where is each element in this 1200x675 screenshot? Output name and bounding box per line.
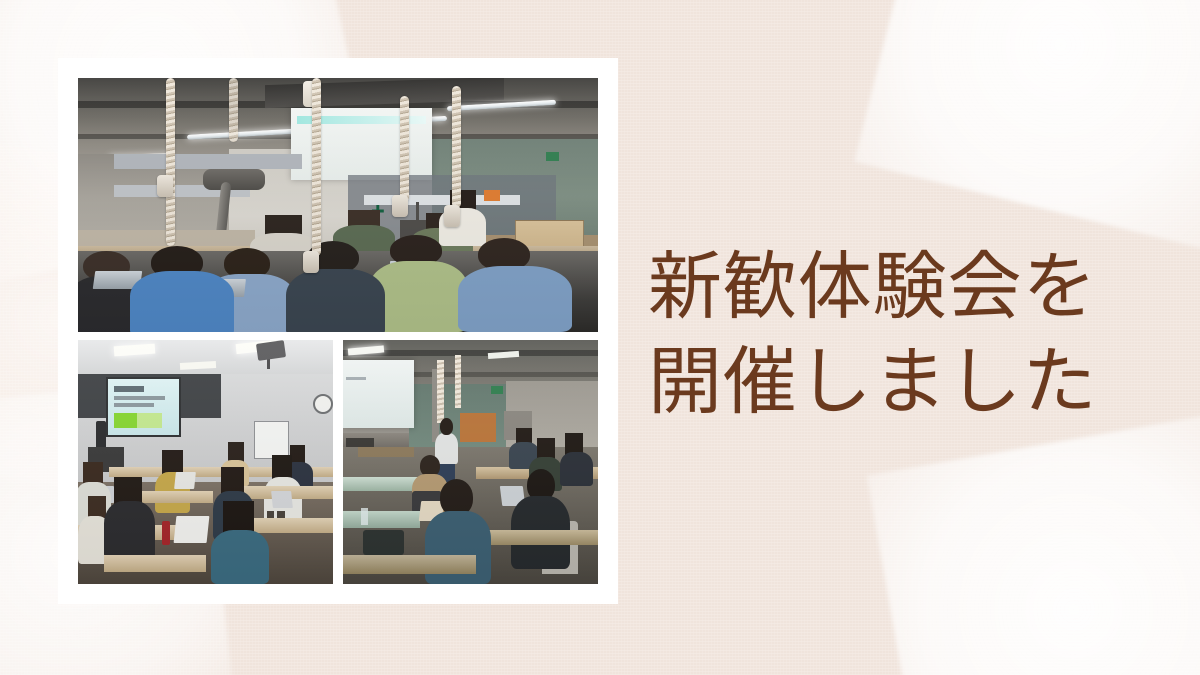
cord-socket: [303, 251, 319, 273]
photo-workshop-lecture-scene: [78, 78, 598, 332]
slide-title-line: [114, 386, 145, 392]
slide-text-line: [114, 396, 165, 400]
slide-green-block: [114, 413, 137, 428]
person-head: [88, 496, 106, 518]
workbench: [481, 530, 598, 545]
headline-line-1: 新歓体験会を: [648, 240, 1148, 335]
hanging-power-cord: [312, 78, 321, 256]
wall-clock: [313, 394, 333, 414]
headline-line-2: 開催しました: [648, 335, 1148, 430]
slide-text-line: [346, 377, 366, 380]
hanging-power-cord: [455, 355, 461, 409]
slide-text-line: [114, 154, 301, 169]
hanging-power-cord: [452, 86, 461, 208]
slide-green-block: [137, 413, 163, 428]
workshop-machine-arm: [416, 202, 419, 225]
person-torso: [130, 271, 234, 332]
watercolor-wash-bottom-right: [867, 401, 1200, 675]
projection-screen: [343, 360, 414, 428]
exit-sign-icon: [491, 386, 503, 394]
water-bottle: [361, 508, 369, 525]
photo-row-bottom: [78, 340, 598, 584]
person-torso: [458, 266, 572, 332]
person-torso: [560, 452, 593, 486]
laptop: [174, 472, 196, 489]
desk-row: [104, 555, 206, 572]
hanging-power-cord: [400, 96, 409, 203]
photo-workshop-lecture: [78, 78, 598, 332]
workbench: [358, 447, 414, 457]
ventilation-pipe: [203, 169, 265, 189]
water-bottle: [162, 521, 170, 545]
photo-collage-frame: [58, 58, 618, 604]
hanging-power-cord: [229, 78, 238, 142]
hanging-power-cord: [166, 78, 175, 246]
cord-socket: [392, 195, 408, 217]
photo-workshop-benches-scene: [343, 340, 598, 584]
whiteboard: [254, 421, 289, 460]
person-head: [83, 462, 103, 484]
speaker-stack: [96, 421, 106, 450]
desk-row: [246, 518, 333, 533]
person-torso: [104, 501, 155, 560]
person-head: [162, 450, 182, 474]
orange-sign: [484, 190, 500, 201]
slide-text-line: [114, 403, 155, 407]
photo-classroom-lecture-scene: [78, 340, 333, 584]
watercolor-wash-top-right: [854, 0, 1200, 266]
laptop: [271, 491, 293, 508]
cord-socket: [444, 205, 460, 227]
laptop: [173, 516, 209, 543]
person-torso: [286, 269, 385, 333]
photo-workshop-benches: [343, 340, 598, 584]
workbench: [343, 511, 420, 528]
slide-canvas: 新歓体験会を 開催しました: [0, 0, 1200, 675]
tool-rack: [460, 413, 496, 442]
workbench: [343, 555, 476, 575]
photo-classroom-lecture: [78, 340, 333, 584]
headline: 新歓体験会を 開催しました: [648, 240, 1148, 429]
presenter-head: [440, 418, 453, 435]
person-torso: [211, 530, 270, 584]
photo-collage-grid: [78, 78, 598, 584]
person-head: [221, 467, 244, 494]
exit-sign-icon: [546, 152, 559, 161]
cord-socket: [157, 175, 173, 197]
person-head: [272, 455, 292, 479]
laptop-bag: [363, 530, 404, 554]
hanging-power-cord: [437, 360, 444, 423]
